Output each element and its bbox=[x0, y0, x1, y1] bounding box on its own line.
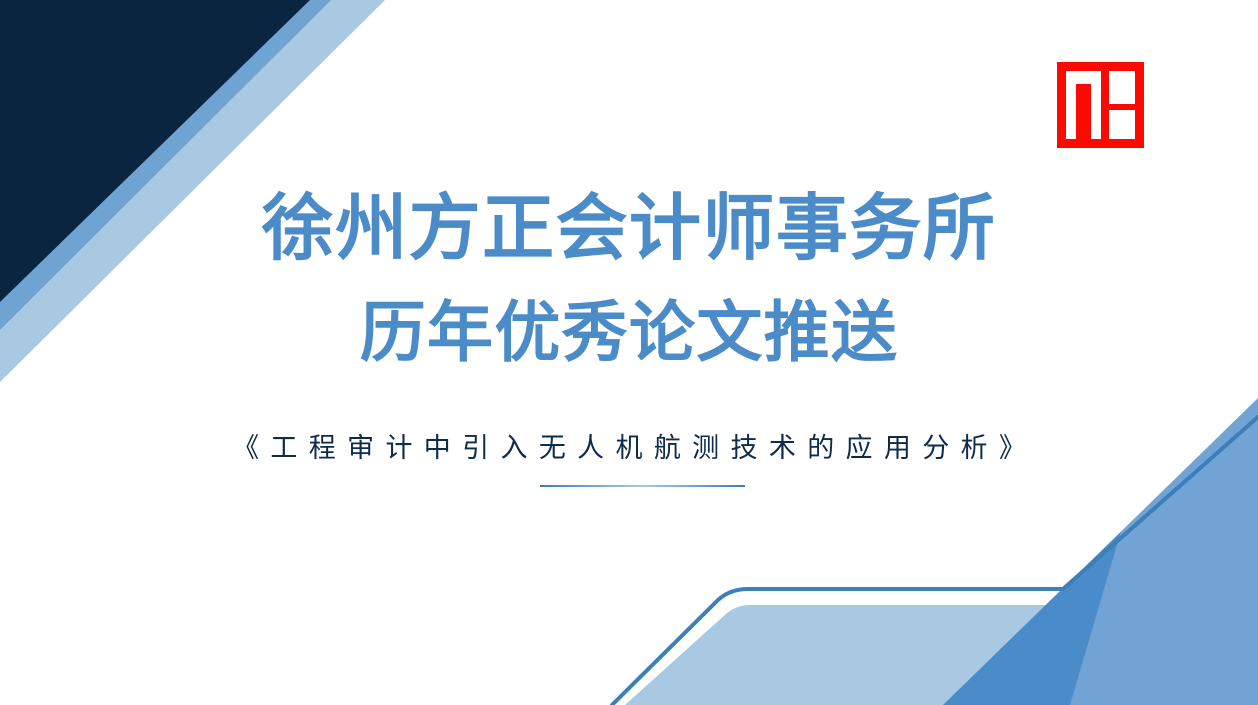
page-title-line-1: 徐州方正会计师事务所 bbox=[0, 192, 1258, 264]
company-logo bbox=[1057, 62, 1144, 148]
paper-subtitle: 《工程审计中引入无人机航测技术的应用分析》 bbox=[0, 426, 1258, 465]
top-left-light-band bbox=[0, 0, 385, 382]
stepped-plate-fill bbox=[625, 437, 1258, 705]
logo-cutout-upper-right bbox=[1109, 71, 1135, 104]
page-title-line-2: 历年优秀论文推送 bbox=[0, 300, 1258, 366]
logo-cutout-left-right-leg bbox=[1091, 71, 1101, 139]
diagonal-band-dark bbox=[943, 398, 1258, 705]
diagonal-band-light-overlay bbox=[1070, 398, 1258, 705]
top-left-medium-band bbox=[0, 0, 331, 330]
title-divider-rule bbox=[540, 485, 745, 487]
slide-canvas: 徐州方正会计师事务所 历年优秀论文推送 《工程审计中引入无人机航测技术的应用分析… bbox=[0, 0, 1258, 705]
logo-cutout-lower-right bbox=[1109, 110, 1135, 139]
stepped-plate-outline bbox=[612, 417, 1258, 705]
top-left-navy-triangle bbox=[0, 0, 310, 302]
